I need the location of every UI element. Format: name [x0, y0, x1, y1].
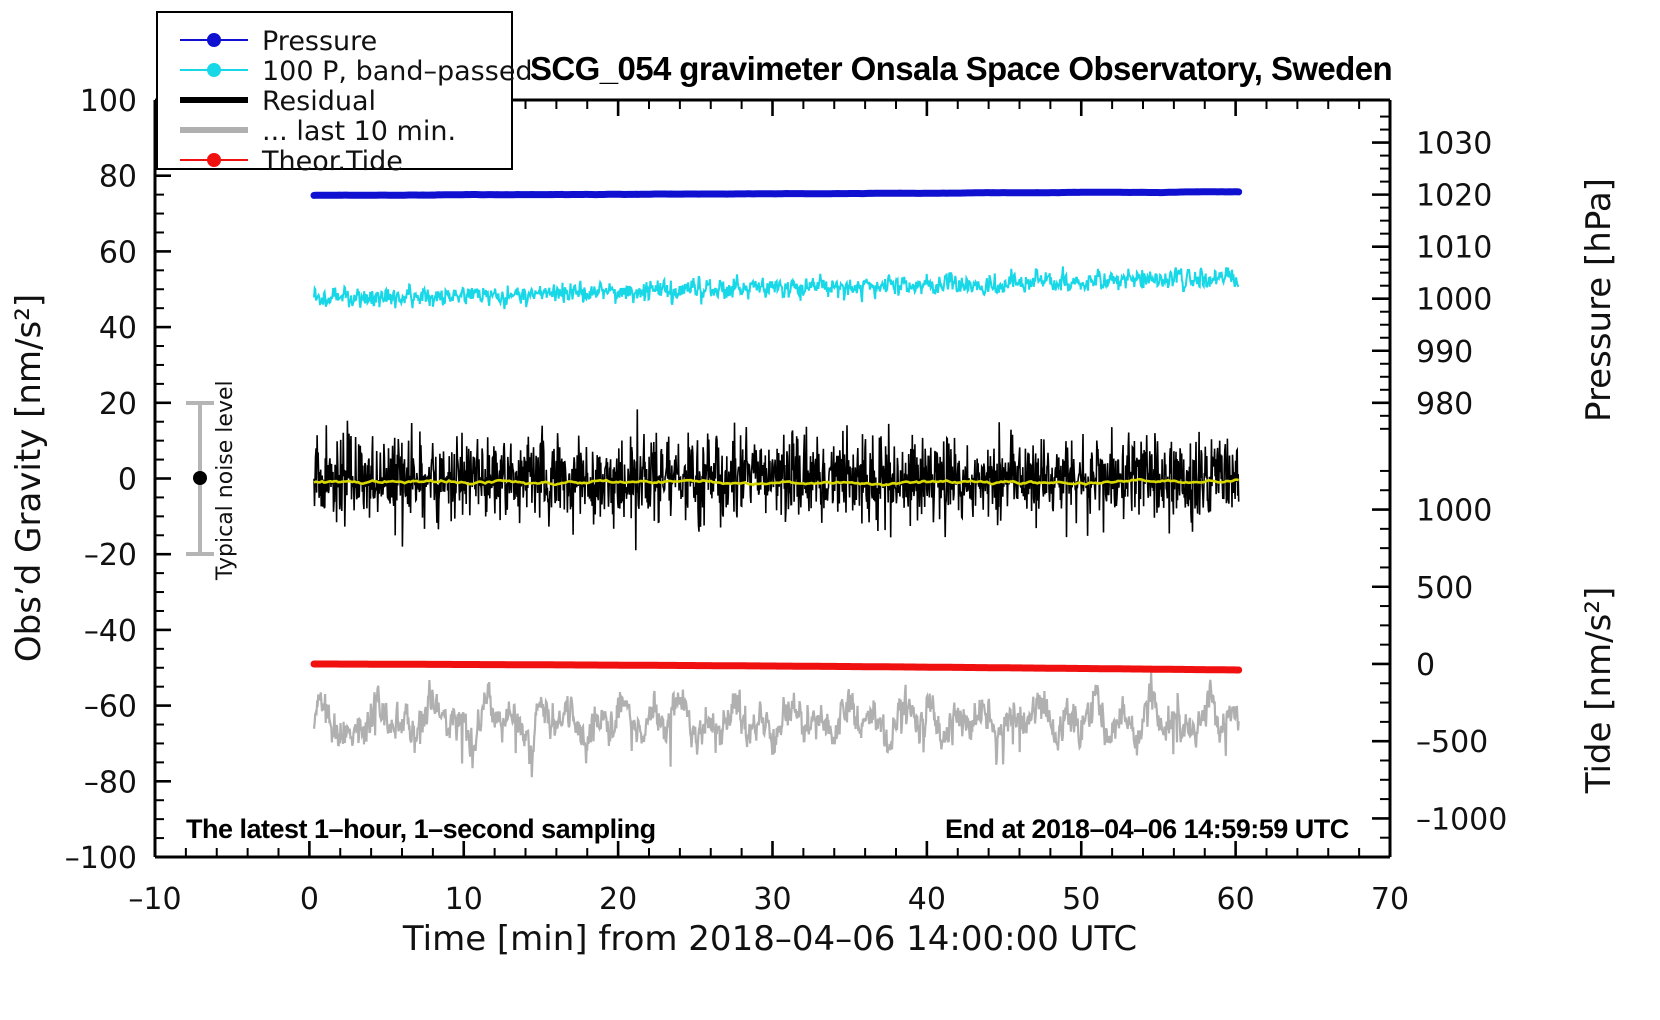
y-ticklabel: 80: [99, 160, 137, 195]
tide-ticklabel: 1000: [1416, 494, 1492, 529]
y-ticklabel: 0: [118, 463, 137, 498]
x-ticklabel: 40: [908, 882, 946, 917]
tide-ticklabel: –1000: [1416, 802, 1507, 837]
y-ticklabel: –100: [65, 841, 137, 876]
y-ticklabel: –80: [84, 765, 137, 800]
x-ticklabel: 50: [1062, 882, 1100, 917]
x-ticklabel: 10: [445, 882, 483, 917]
legend-marker-dot: [207, 153, 221, 167]
y-ticklabel: –60: [84, 690, 137, 725]
legend-label: 100 P, band–passed: [262, 56, 533, 87]
pressure-ticklabel: 1030: [1416, 127, 1492, 162]
legend-label: Pressure: [262, 26, 377, 57]
legend-label: ... last 10 min.: [262, 116, 456, 147]
gravimeter-plot: –10010203040506070 –100–80–60–40–2002040…: [0, 0, 1660, 1020]
x-ticklabel: 20: [599, 882, 637, 917]
tide-ticklabel: –500: [1416, 725, 1488, 760]
pressure-ticklabel: 990: [1416, 335, 1473, 370]
x-ticklabel: 70: [1371, 882, 1409, 917]
legend: Pressure100 P, band–passedResidual... la…: [157, 12, 533, 177]
chart-title: SCG_054 gravimeter Onsala Space Observat…: [530, 50, 1392, 87]
y-ticklabel: –20: [84, 538, 137, 573]
x-axis-title: Time [min] from 2018–04–06 14:00:00 UTC: [402, 919, 1137, 959]
tide-ticklabel: 500: [1416, 571, 1473, 606]
x-ticklabel: –10: [128, 882, 181, 917]
right-axis-title-tide: Tide [nm/s²]: [1579, 587, 1619, 794]
y-ticklabel: 100: [80, 84, 137, 119]
pressure-ticklabel: 1020: [1416, 179, 1492, 214]
y-axis-title: Obs’d Gravity [nm/s²]: [9, 294, 49, 662]
tide-ticklabel: 0: [1416, 648, 1435, 683]
legend-marker-dot: [207, 63, 221, 77]
x-ticklabel: 60: [1217, 882, 1255, 917]
y-ticklabel: 40: [99, 311, 137, 346]
pressure-ticklabel: 1000: [1416, 283, 1492, 318]
bottom-left-annotation: The latest 1–hour, 1–second sampling: [186, 814, 656, 844]
legend-marker-dot: [207, 33, 221, 47]
y-ticklabel: 60: [99, 235, 137, 270]
pressure-ticklabel: 1010: [1416, 231, 1492, 266]
x-ticklabel: 30: [753, 882, 791, 917]
bottom-right-annotation: End at 2018–04–06 14:59:59 UTC: [945, 814, 1349, 844]
series-pressure: [314, 192, 1239, 196]
legend-label: Residual: [262, 86, 376, 117]
y-ticklabel: 20: [99, 387, 137, 422]
chart-container: –10010203040506070 –100–80–60–40–2002040…: [0, 0, 1660, 1020]
noise-center-dot: [193, 471, 207, 485]
noise-label: Typical noise level: [213, 380, 238, 581]
pressure-ticklabel: 980: [1416, 387, 1473, 422]
legend-label: Theor.Tide: [261, 146, 403, 177]
y-ticklabel: –40: [84, 614, 137, 649]
x-ticklabel: 0: [300, 882, 319, 917]
right-axis-title-pressure: Pressure [hPa]: [1579, 178, 1619, 422]
